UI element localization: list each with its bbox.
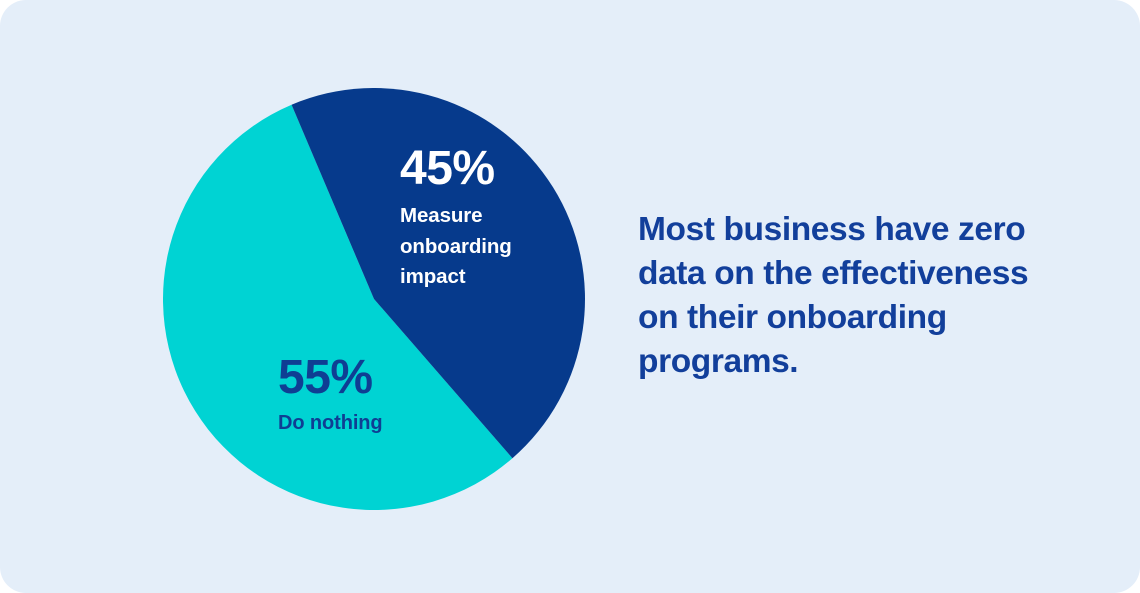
pie-label-do-nothing-percent: 55% xyxy=(278,353,468,403)
pie-label-measure-description: Measure onboarding impact xyxy=(400,201,550,292)
pie-chart: 45% Measure onboarding impact 55% Do not… xyxy=(163,88,585,510)
infographic-card: 45% Measure onboarding impact 55% Do not… xyxy=(0,0,1140,593)
pie-label-measure-onboarding-impact: 45% Measure onboarding impact xyxy=(400,144,550,292)
pie-label-measure-percent: 45% xyxy=(400,144,550,194)
pie-label-do-nothing: 55% Do nothing xyxy=(278,353,468,439)
headline-text: Most business have zero data on the effe… xyxy=(638,208,1038,384)
headline-block: Most business have zero data on the effe… xyxy=(638,208,1038,384)
pie-label-do-nothing-description: Do nothing xyxy=(278,409,468,439)
